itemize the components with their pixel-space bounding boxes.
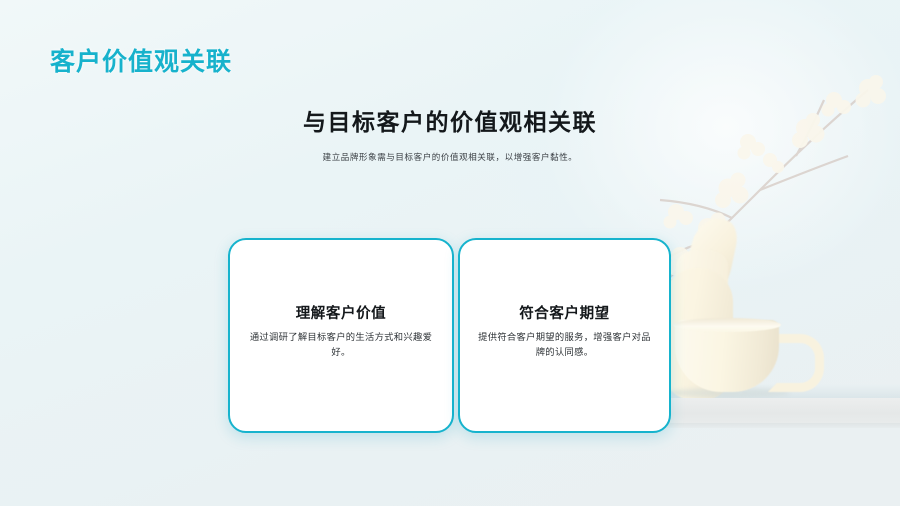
- slide-eyebrow-title: 客户价值观关联: [50, 42, 232, 78]
- card-title: 符合客户期望: [519, 302, 610, 323]
- cup-shadow: [668, 388, 790, 398]
- page-subtitle: 建立品牌形象需与目标客户的价值观相关联，以增强客户黏性。: [0, 151, 900, 163]
- card-title: 理解客户价值: [296, 302, 387, 323]
- page-title: 与目标客户的价值观相关联: [0, 103, 900, 137]
- cup-body: [675, 320, 779, 392]
- card-description: 提供符合客户期望的服务，增强客户对品牌的认同感。: [478, 330, 651, 359]
- cup-rim: [673, 318, 781, 332]
- value-card-2[interactable]: 符合客户期望 提供符合客户期望的服务，增强客户对品牌的认同感。: [458, 238, 671, 433]
- teapot-spout: [683, 214, 741, 292]
- teapot-body: [663, 268, 733, 400]
- value-card-1[interactable]: 理解客户价值 通过调研了解目标客户的生活方式和兴趣爱好。: [228, 238, 454, 433]
- slide-canvas: 客户价值观关联 与目标客户的价值观相关联 建立品牌形象需与目标客户的价值观相关联…: [0, 0, 900, 506]
- teapot-neck: [676, 250, 728, 290]
- card-description: 通过调研了解目标客户的生活方式和兴趣爱好。: [248, 330, 434, 359]
- cup-handle: [768, 334, 824, 392]
